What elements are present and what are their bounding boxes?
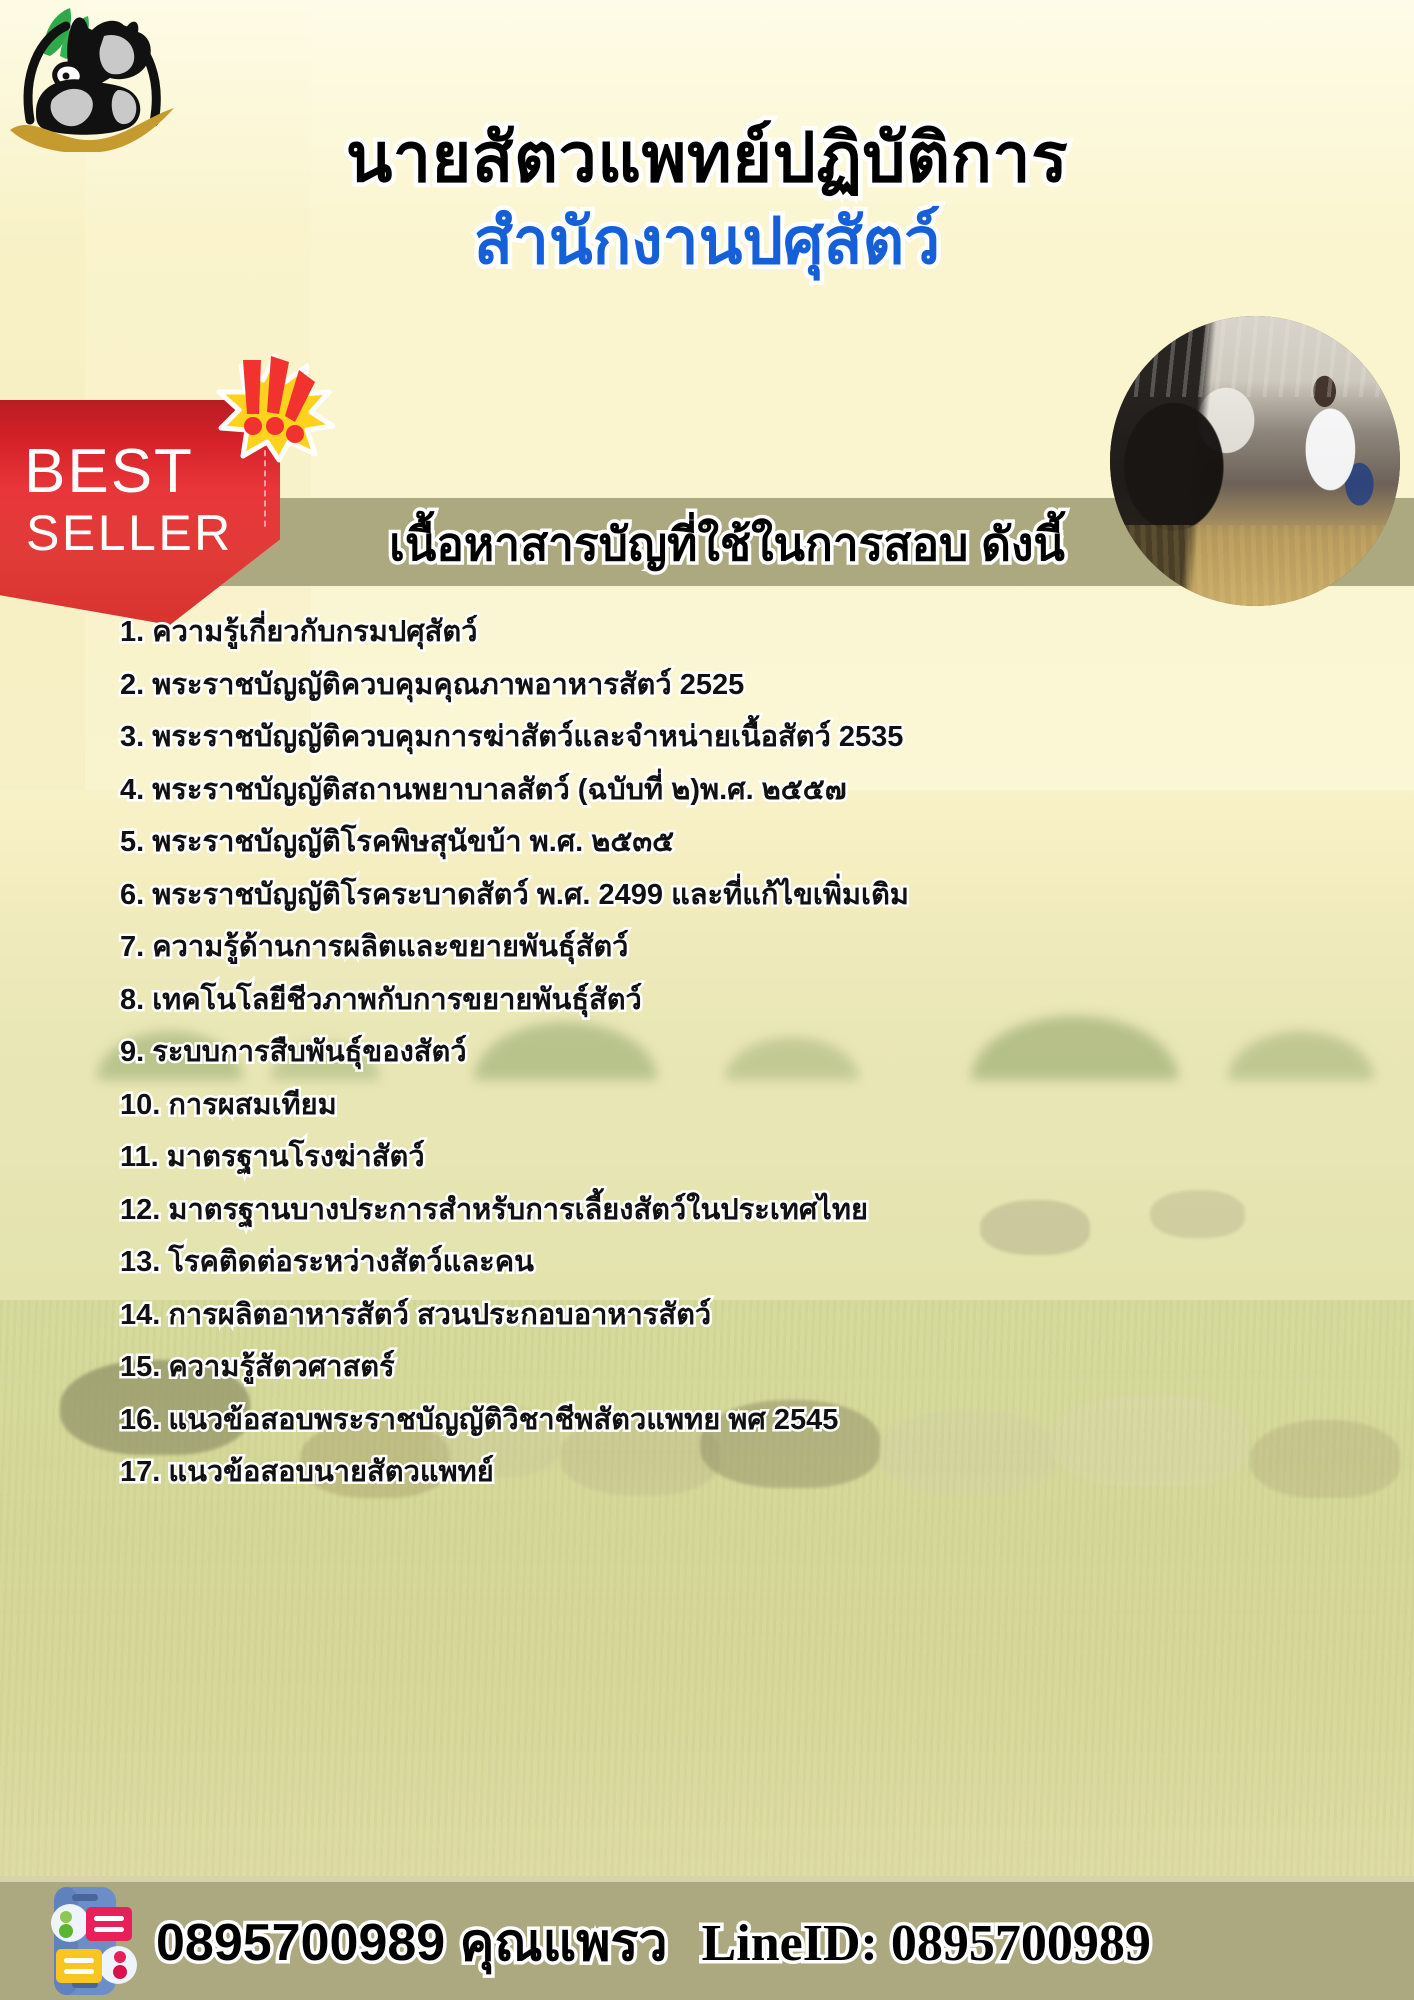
- vet-with-cows-photo: [1110, 316, 1400, 606]
- title-line-2: สำนักงานปศุสัตว์: [0, 206, 1414, 278]
- list-item: 5. พระราชบัญญัติโรคพิษสุนัขบ้า พ.ศ. ๒๕๓๕: [120, 828, 1300, 857]
- list-item: 14. การผลิตอาหารสัตว์ สวนประกอบอาหารสัตว…: [120, 1301, 1300, 1330]
- footer-divider: [0, 1876, 1414, 1882]
- list-item: 17. แนวข้อสอบนายสัตวแพทย์: [120, 1458, 1300, 1487]
- list-item: 4. พระราชบัญญัติสถานพยาบาลสัตว์ (ฉบับที่…: [120, 776, 1300, 805]
- list-item: 11. มาตรฐานโรงฆ่าสัตว์: [120, 1143, 1300, 1172]
- seller-label: SELLER: [26, 504, 233, 562]
- contact-line-id: LineID: 0895700989: [702, 1914, 1151, 1973]
- contact-phone: 0895700989 คุณแพรว: [156, 1900, 668, 1983]
- list-item: 7. ความรู้ด้านการผลิตและขยายพันธุ์สัตว์: [120, 933, 1300, 962]
- cow-leaf-logo-icon: [8, 2, 178, 152]
- list-item: 10. การผสมเทียม: [120, 1091, 1300, 1120]
- list-item: 8. เทคโนโลยีชีวภาพกับการขยายพันธุ์สัตว์: [120, 986, 1300, 1015]
- exclamation-burst-icon: [215, 348, 335, 463]
- list-item: 9. ระบบการสืบพันธุ์ของสัตว์: [120, 1038, 1300, 1067]
- page-title: นายสัตวแพทย์ปฏิบัติการ สำนักงานปศุสัตว์: [0, 120, 1414, 278]
- list-item: 1. ความรู้เกี่ยวกับกรมปศุสัตว์: [120, 618, 1300, 647]
- title-line-1: นายสัตวแพทย์ปฏิบัติการ: [0, 120, 1414, 196]
- list-item: 2. พระราชบัญญัติควบคุมคุณภาพอาหารสัตว์ 2…: [120, 671, 1300, 700]
- content-list: 1. ความรู้เกี่ยวกับกรมปศุสัตว์ 2. พระราช…: [120, 618, 1300, 1511]
- list-item: 16. แนวข้อสอบพระราชบัญญัติวิชาชีพสัตวแพท…: [120, 1406, 1300, 1435]
- list-item: 12. มาตรฐานบางประการสำหรับการเลี้ยงสัตว์…: [120, 1196, 1300, 1225]
- contact-footer: 0895700989 คุณแพรว LineID: 0895700989: [0, 1882, 1414, 2000]
- list-item: 13. โรคติดต่อระหว่างสัตว์และคน: [120, 1248, 1300, 1277]
- best-label: BEST: [24, 436, 194, 507]
- mobile-chat-icon: [24, 1885, 144, 1997]
- list-item: 15. ความรู้สัตวศาสตร์: [120, 1353, 1300, 1382]
- list-item: 3. พระราชบัญญัติควบคุมการฆ่าสัตว์และจำหน…: [120, 723, 1300, 752]
- poster-root: นายสัตวแพทย์ปฏิบัติการ สำนักงานปศุสัตว์ …: [0, 0, 1414, 2000]
- list-item: 6. พระราชบัญญัติโรคระบาดสัตว์ พ.ศ. 2499 …: [120, 881, 1300, 910]
